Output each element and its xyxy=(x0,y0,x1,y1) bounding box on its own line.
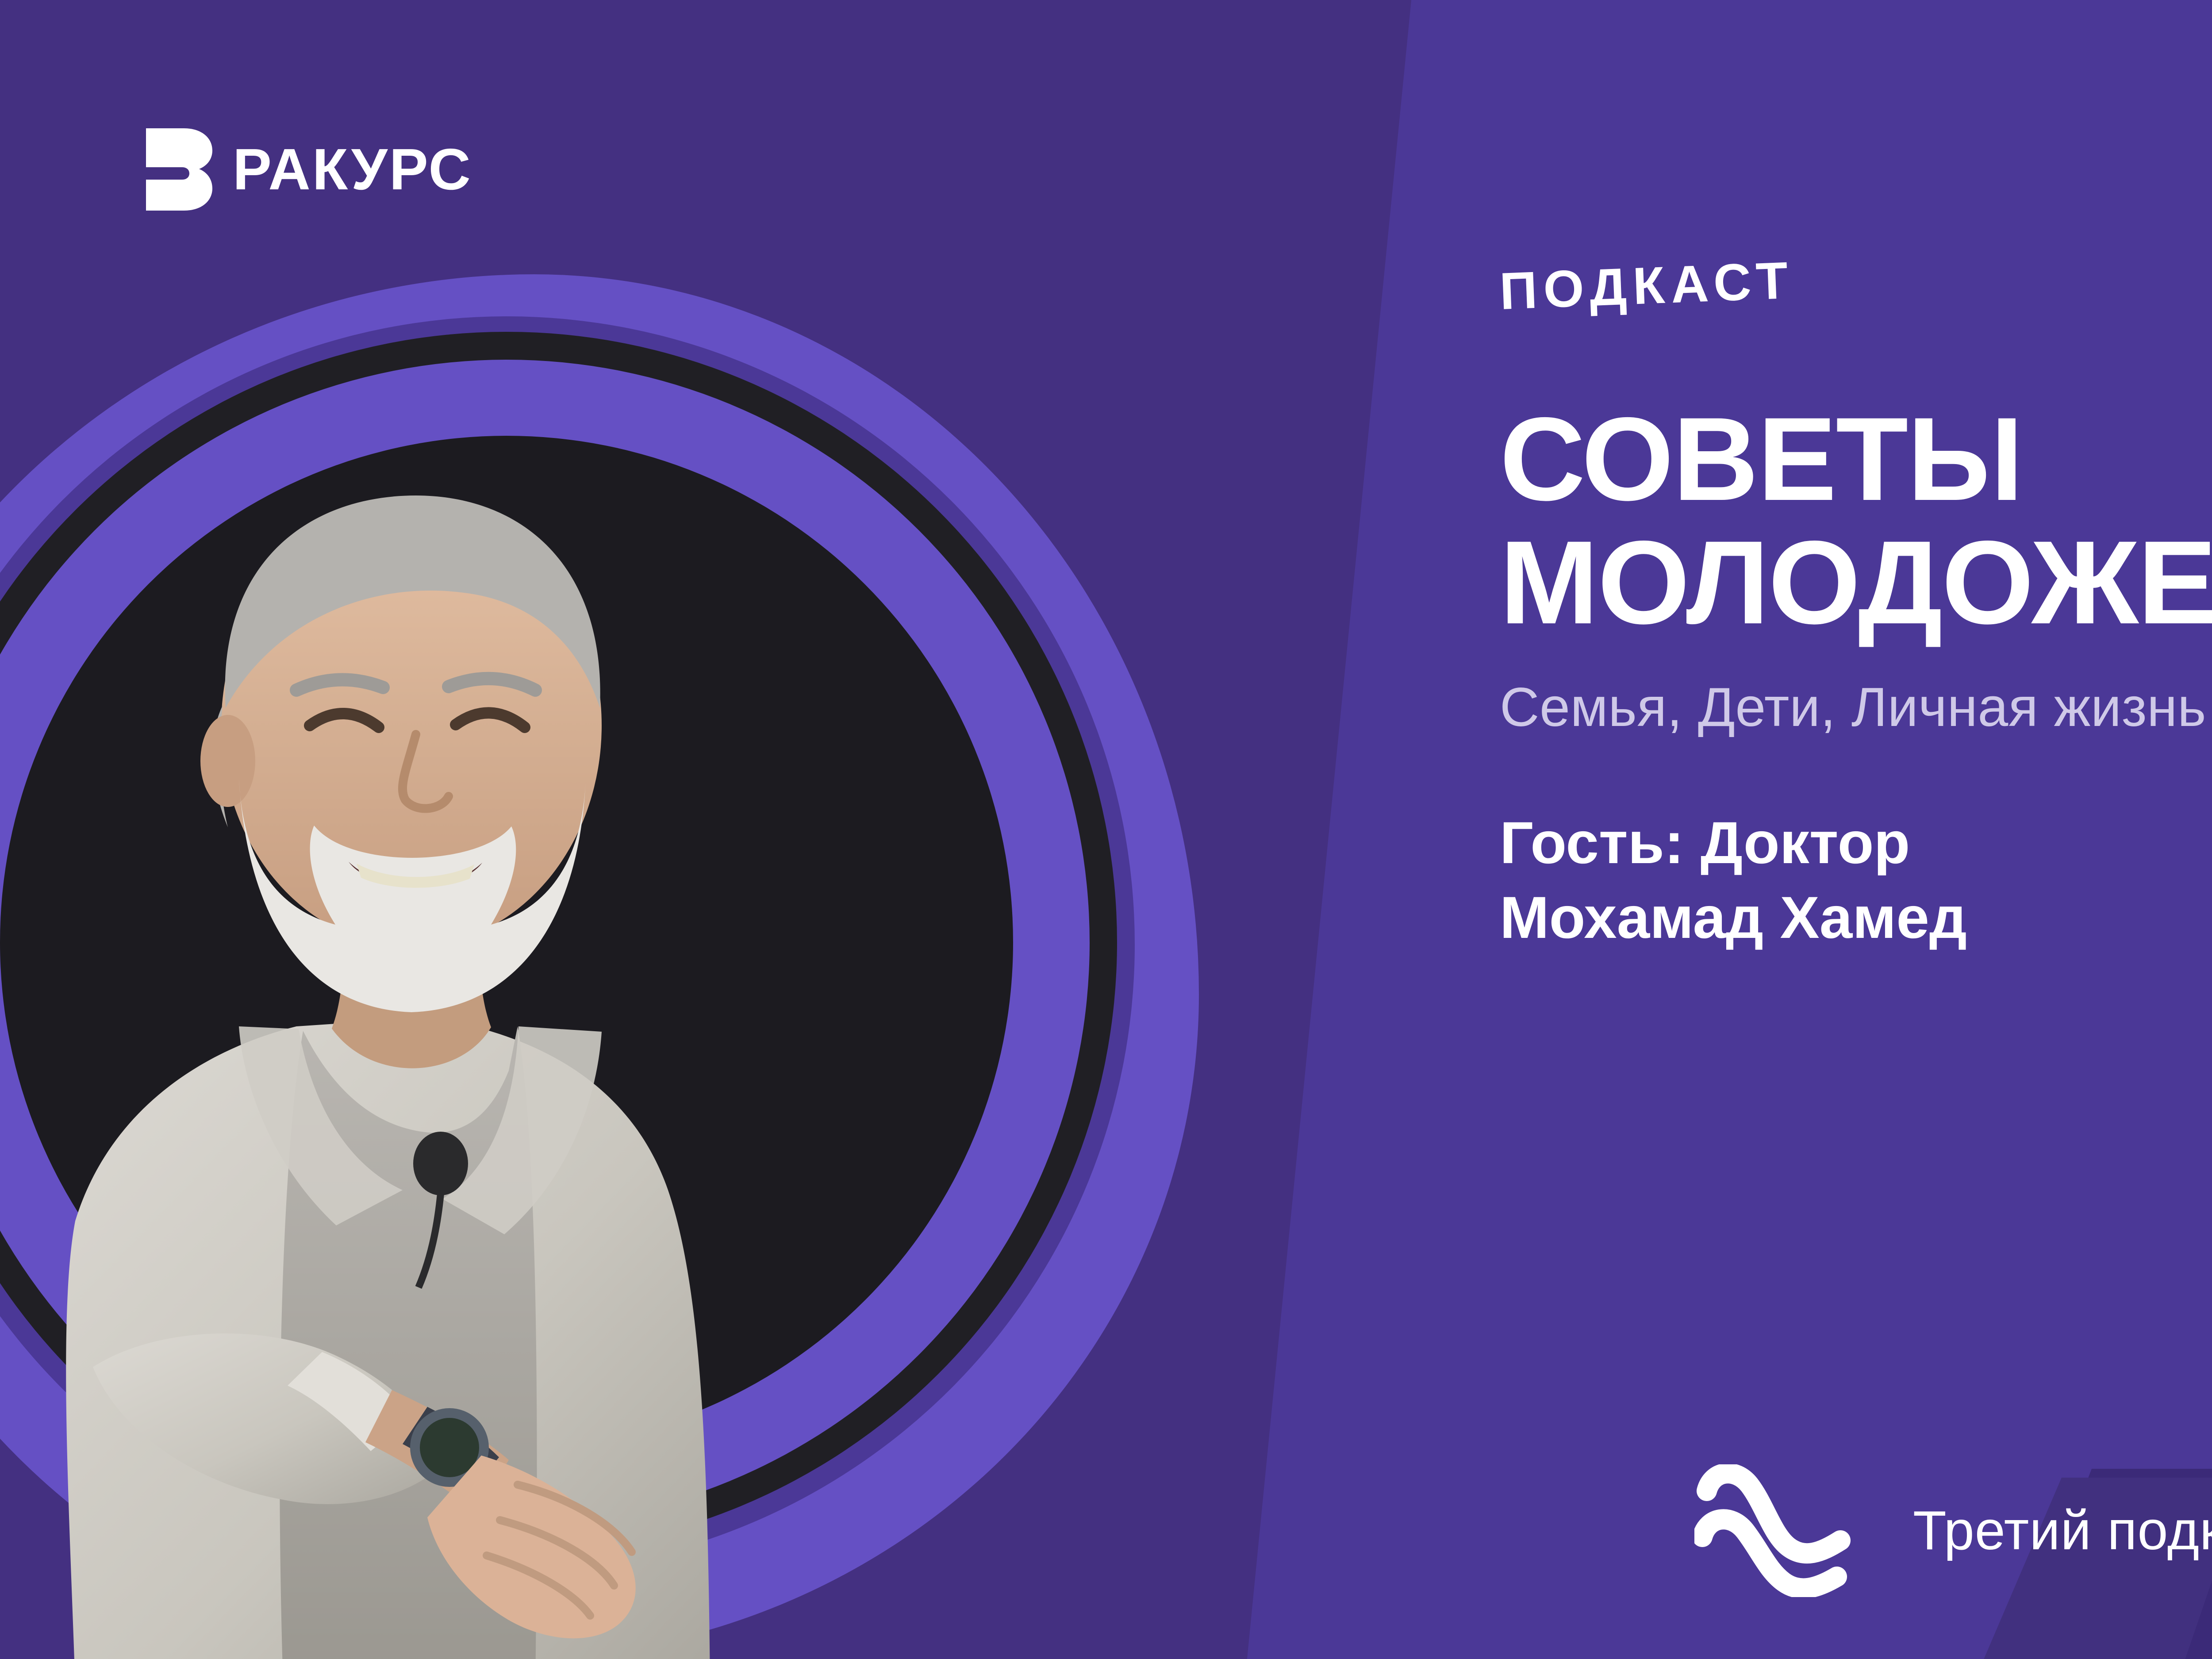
episode-badge: Третий подкаст xyxy=(1694,1464,2212,1597)
headline-line-2: МОЛОДОЖЕНАМ xyxy=(1500,521,2212,644)
brand-logo[interactable]: РАКУРС xyxy=(146,128,472,211)
podcast-cover: РАКУРС ПОДКАСТ СОВЕТЫ МОЛОДОЖЕНАМ Семья,… xyxy=(0,0,2212,1659)
guest-credit: Гость: Доктор Мохамад Хамед xyxy=(1500,806,2212,956)
episode-badge-label: Третий подкаст xyxy=(1913,1499,2212,1562)
cover-content: ПОДКАСТ СОВЕТЫ МОЛОДОЖЕНАМ Семья, Дети, … xyxy=(1500,265,2212,956)
guest-line-1: Гость: Доктор xyxy=(1500,806,2212,881)
guest-photo xyxy=(0,336,889,1659)
headline-line-1: СОВЕТЫ xyxy=(1500,392,2023,525)
brand-logo-text: РАКУРС xyxy=(233,140,472,199)
page-title: СОВЕТЫ МОЛОДОЖЕНАМ xyxy=(1500,397,2212,644)
subtitle: Семья, Дети, Личная жизнь xyxy=(1500,675,2212,741)
guest-photo-composition xyxy=(0,274,1265,1659)
guest-line-2: Мохамад Хамед xyxy=(1500,881,2212,956)
sound-wave-icon xyxy=(1694,1464,1867,1597)
rakurs-e-mark-icon xyxy=(146,128,212,211)
